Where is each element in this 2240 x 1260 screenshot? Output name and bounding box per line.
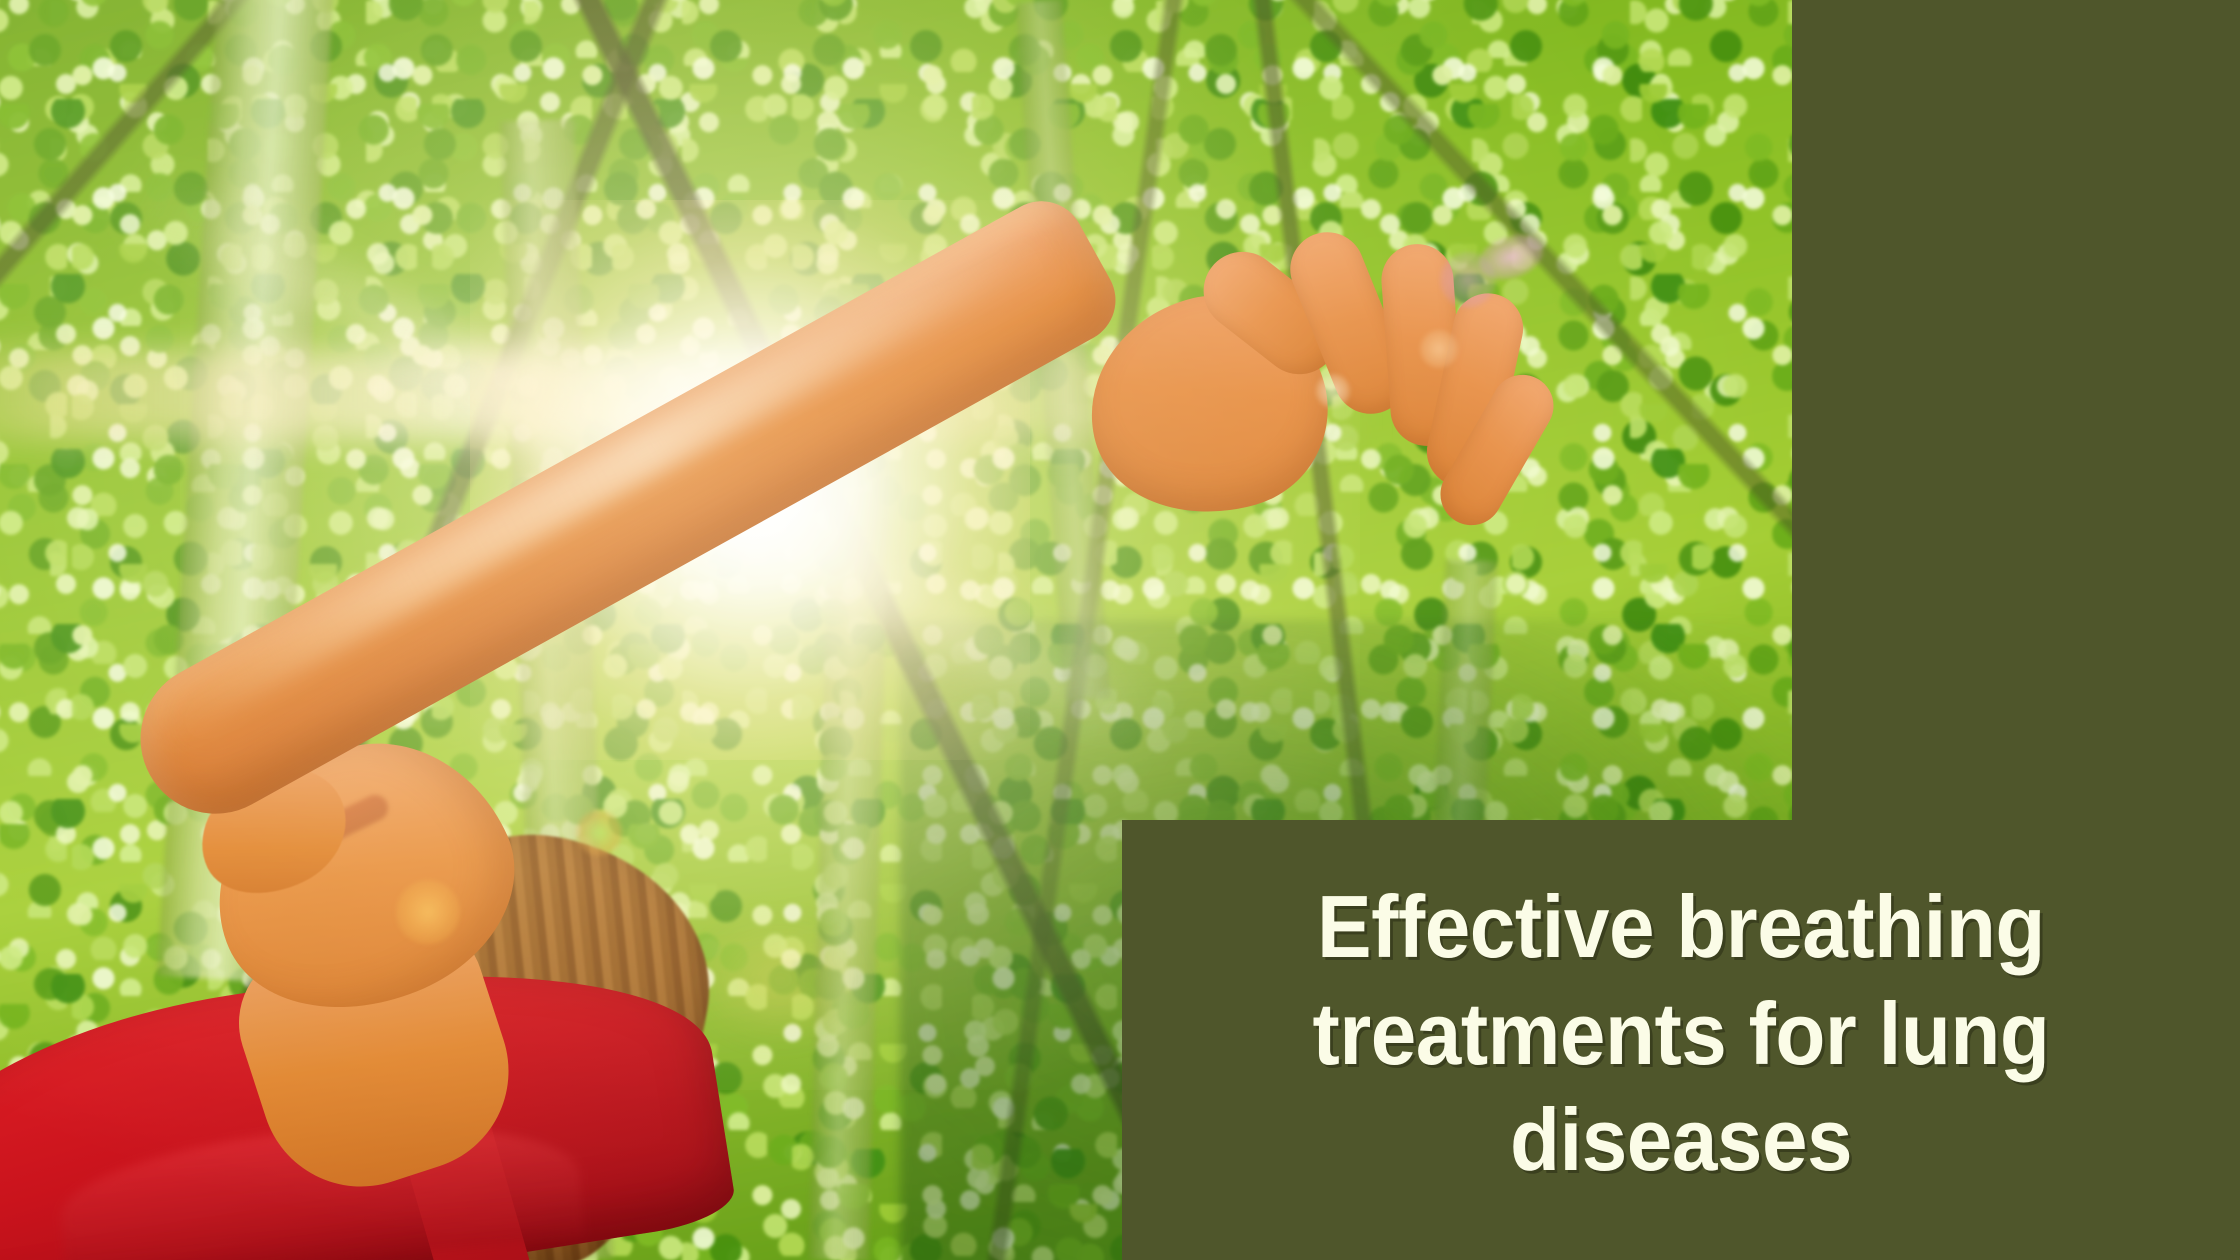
- lens-flare-icon: [1420, 330, 1458, 368]
- banner-canvas: Effective breathing treatments for lung …: [0, 0, 2240, 1260]
- headline-panel: Effective breathing treatments for lung …: [1122, 820, 2240, 1260]
- arm-highlight: [139, 205, 1071, 749]
- lens-flare-icon: [1316, 374, 1350, 408]
- page-title: Effective breathing treatments for lung …: [1193, 874, 2170, 1193]
- lens-flare-icon: [396, 880, 460, 944]
- lens-flare-icon: [1440, 252, 1496, 308]
- lens-flare-icon: [576, 810, 622, 856]
- lens-flare-icon: [694, 916, 866, 1044]
